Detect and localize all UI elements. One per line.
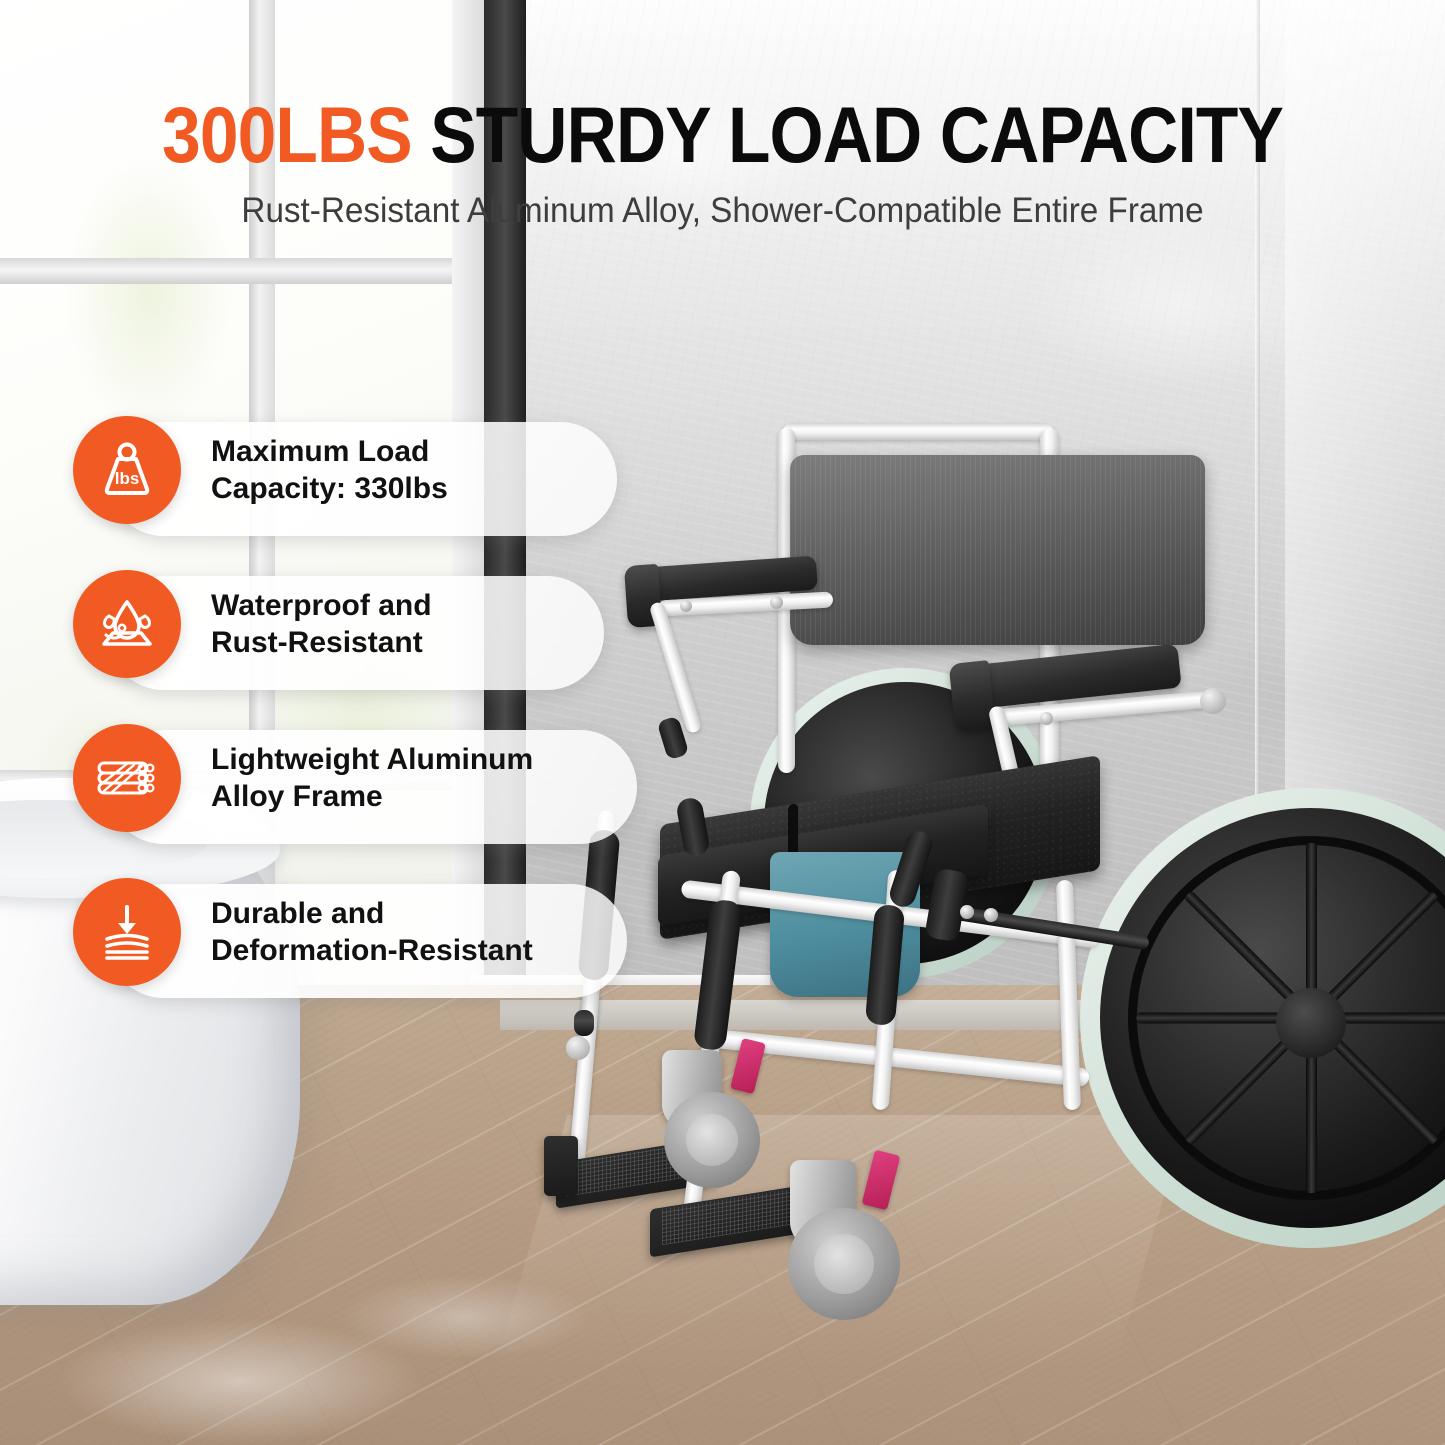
feature-item-durable: Durable and Deformation-Resistant [73,878,533,986]
headline-highlight: 300LBS [162,90,412,179]
page-subtitle: Rust-Resistant Aluminum Alloy, Shower-Co… [36,190,1409,232]
feature-icon-badge [73,724,181,832]
footplate-left-heel [544,1136,578,1196]
svg-text:lbs: lbs [115,469,140,488]
header-block: 300LBS STURDY LOAD CAPACITY Rust-Resista… [0,92,1445,232]
caster-brake-lever-right [862,1150,901,1211]
weight-lbs-icon: lbs [96,439,158,501]
feature-label: Lightweight Aluminum Alloy Frame [211,741,533,815]
feature-label: Maximum Load Capacity: 330lbs [211,433,448,507]
feature-icon-badge [73,570,181,678]
axle-bolt [984,908,998,922]
water-droplet-surface-icon [95,592,159,656]
window-mullion-horizontal [0,258,525,284]
backrest-top-bar [783,423,1053,440]
armrest-knob-right [1200,688,1226,714]
armrest-front-right [949,660,996,732]
front-caster-right-hub [814,1234,874,1294]
feature-list: lbs Maximum Load Capacity: 330lbs Waterp… [73,416,533,1032]
product-marketing-image: 300LBS STURDY LOAD CAPACITY Rust-Resista… [0,0,1445,1445]
armrest-bolt [770,596,783,609]
armrest-bolt [1040,712,1053,725]
front-caster-left-hub [686,1114,738,1166]
headline-rest [412,90,430,179]
feature-item-aluminum-frame: Lightweight Aluminum Alloy Frame [73,724,533,832]
backrest-texture [790,455,1205,645]
feature-item-waterproof: Waterproof and Rust-Resistant [73,570,533,678]
armrest-bolt [680,600,692,612]
armrest-strut-left [649,601,703,734]
footrest-knob-left [566,1036,590,1060]
feature-label: Durable and Deformation-Resistant [211,895,533,969]
feature-label: Waterproof and Rust-Resistant [211,587,432,661]
page-title: 300LBS STURDY LOAD CAPACITY [87,92,1359,178]
rear-wheel-near-hub [1276,988,1346,1058]
aluminum-tube-bundle-icon [94,745,160,811]
feature-icon-badge [73,878,181,986]
feature-item-max-load: lbs Maximum Load Capacity: 330lbs [73,416,533,524]
shower-commode-wheelchair [540,400,1445,1330]
axle-bolt [960,905,974,919]
feature-icon-badge: lbs [73,416,181,524]
compression-arrow-icon [96,901,158,963]
leg-height-collar [574,1010,594,1036]
headline-rest-text: STURDY LOAD CAPACITY [430,90,1283,179]
